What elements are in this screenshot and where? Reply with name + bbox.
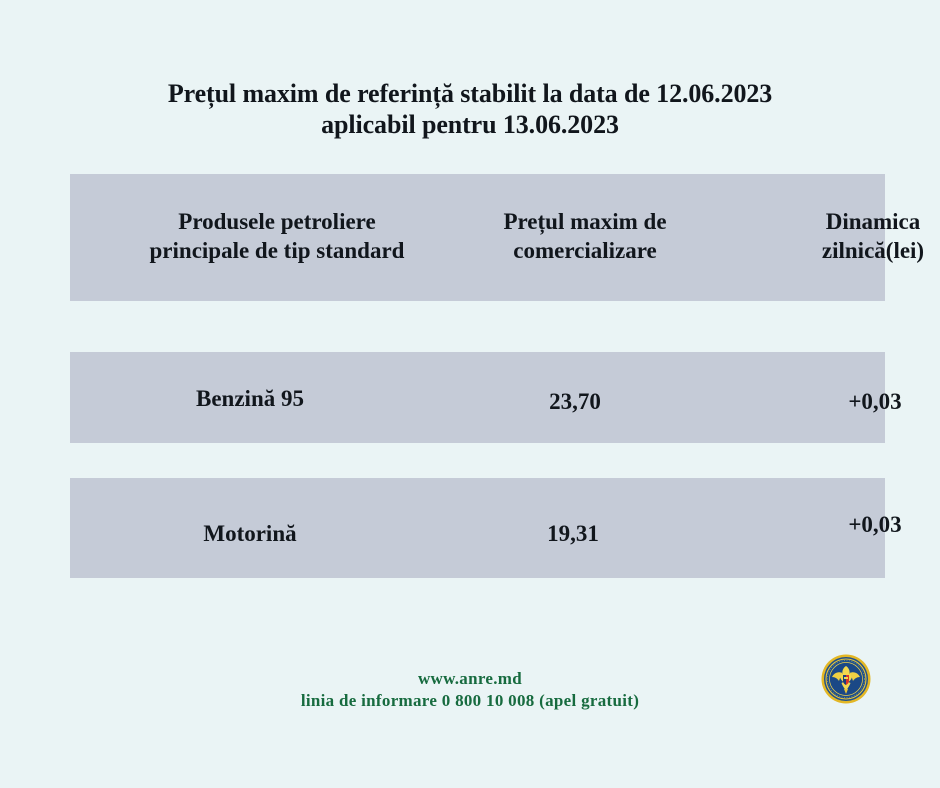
cell-product-name: Benzină 95 [100,385,400,413]
infographic-page: Prețul maxim de referință stabilit la da… [0,0,940,788]
page-title: Prețul maxim de referință stabilit la da… [0,78,940,140]
title-line-1: Prețul maxim de referință stabilit la da… [0,78,940,109]
cell-product-name: Motorină [100,520,400,548]
footer: www.anre.md linia de informare 0 800 10 … [0,668,940,712]
footer-website: www.anre.md [0,668,940,690]
title-line-2: aplicabil pentru 13.06.2023 [0,109,940,140]
cell-dynamics-value: +0,03 [775,388,940,416]
cell-price-value: 19,31 [473,520,673,548]
anre-emblem-icon [821,654,871,704]
column-header-product: Produsele petroliere principale de tip s… [137,207,417,265]
cell-dynamics-value: +0,03 [775,511,940,539]
table-row: Benzină 95 23,70 +0,03 [70,352,885,443]
cell-price-value: 23,70 [475,388,675,416]
table-row: Motorină 19,31 +0,03 [70,478,885,578]
column-header-price: Prețul maxim de comercializare [460,207,710,265]
table-header-row: Produsele petroliere principale de tip s… [70,174,885,301]
column-header-dynamics: Dinamica zilnică(lei) [773,207,940,265]
footer-info-line: linia de informare 0 800 10 008 (apel gr… [0,690,940,712]
